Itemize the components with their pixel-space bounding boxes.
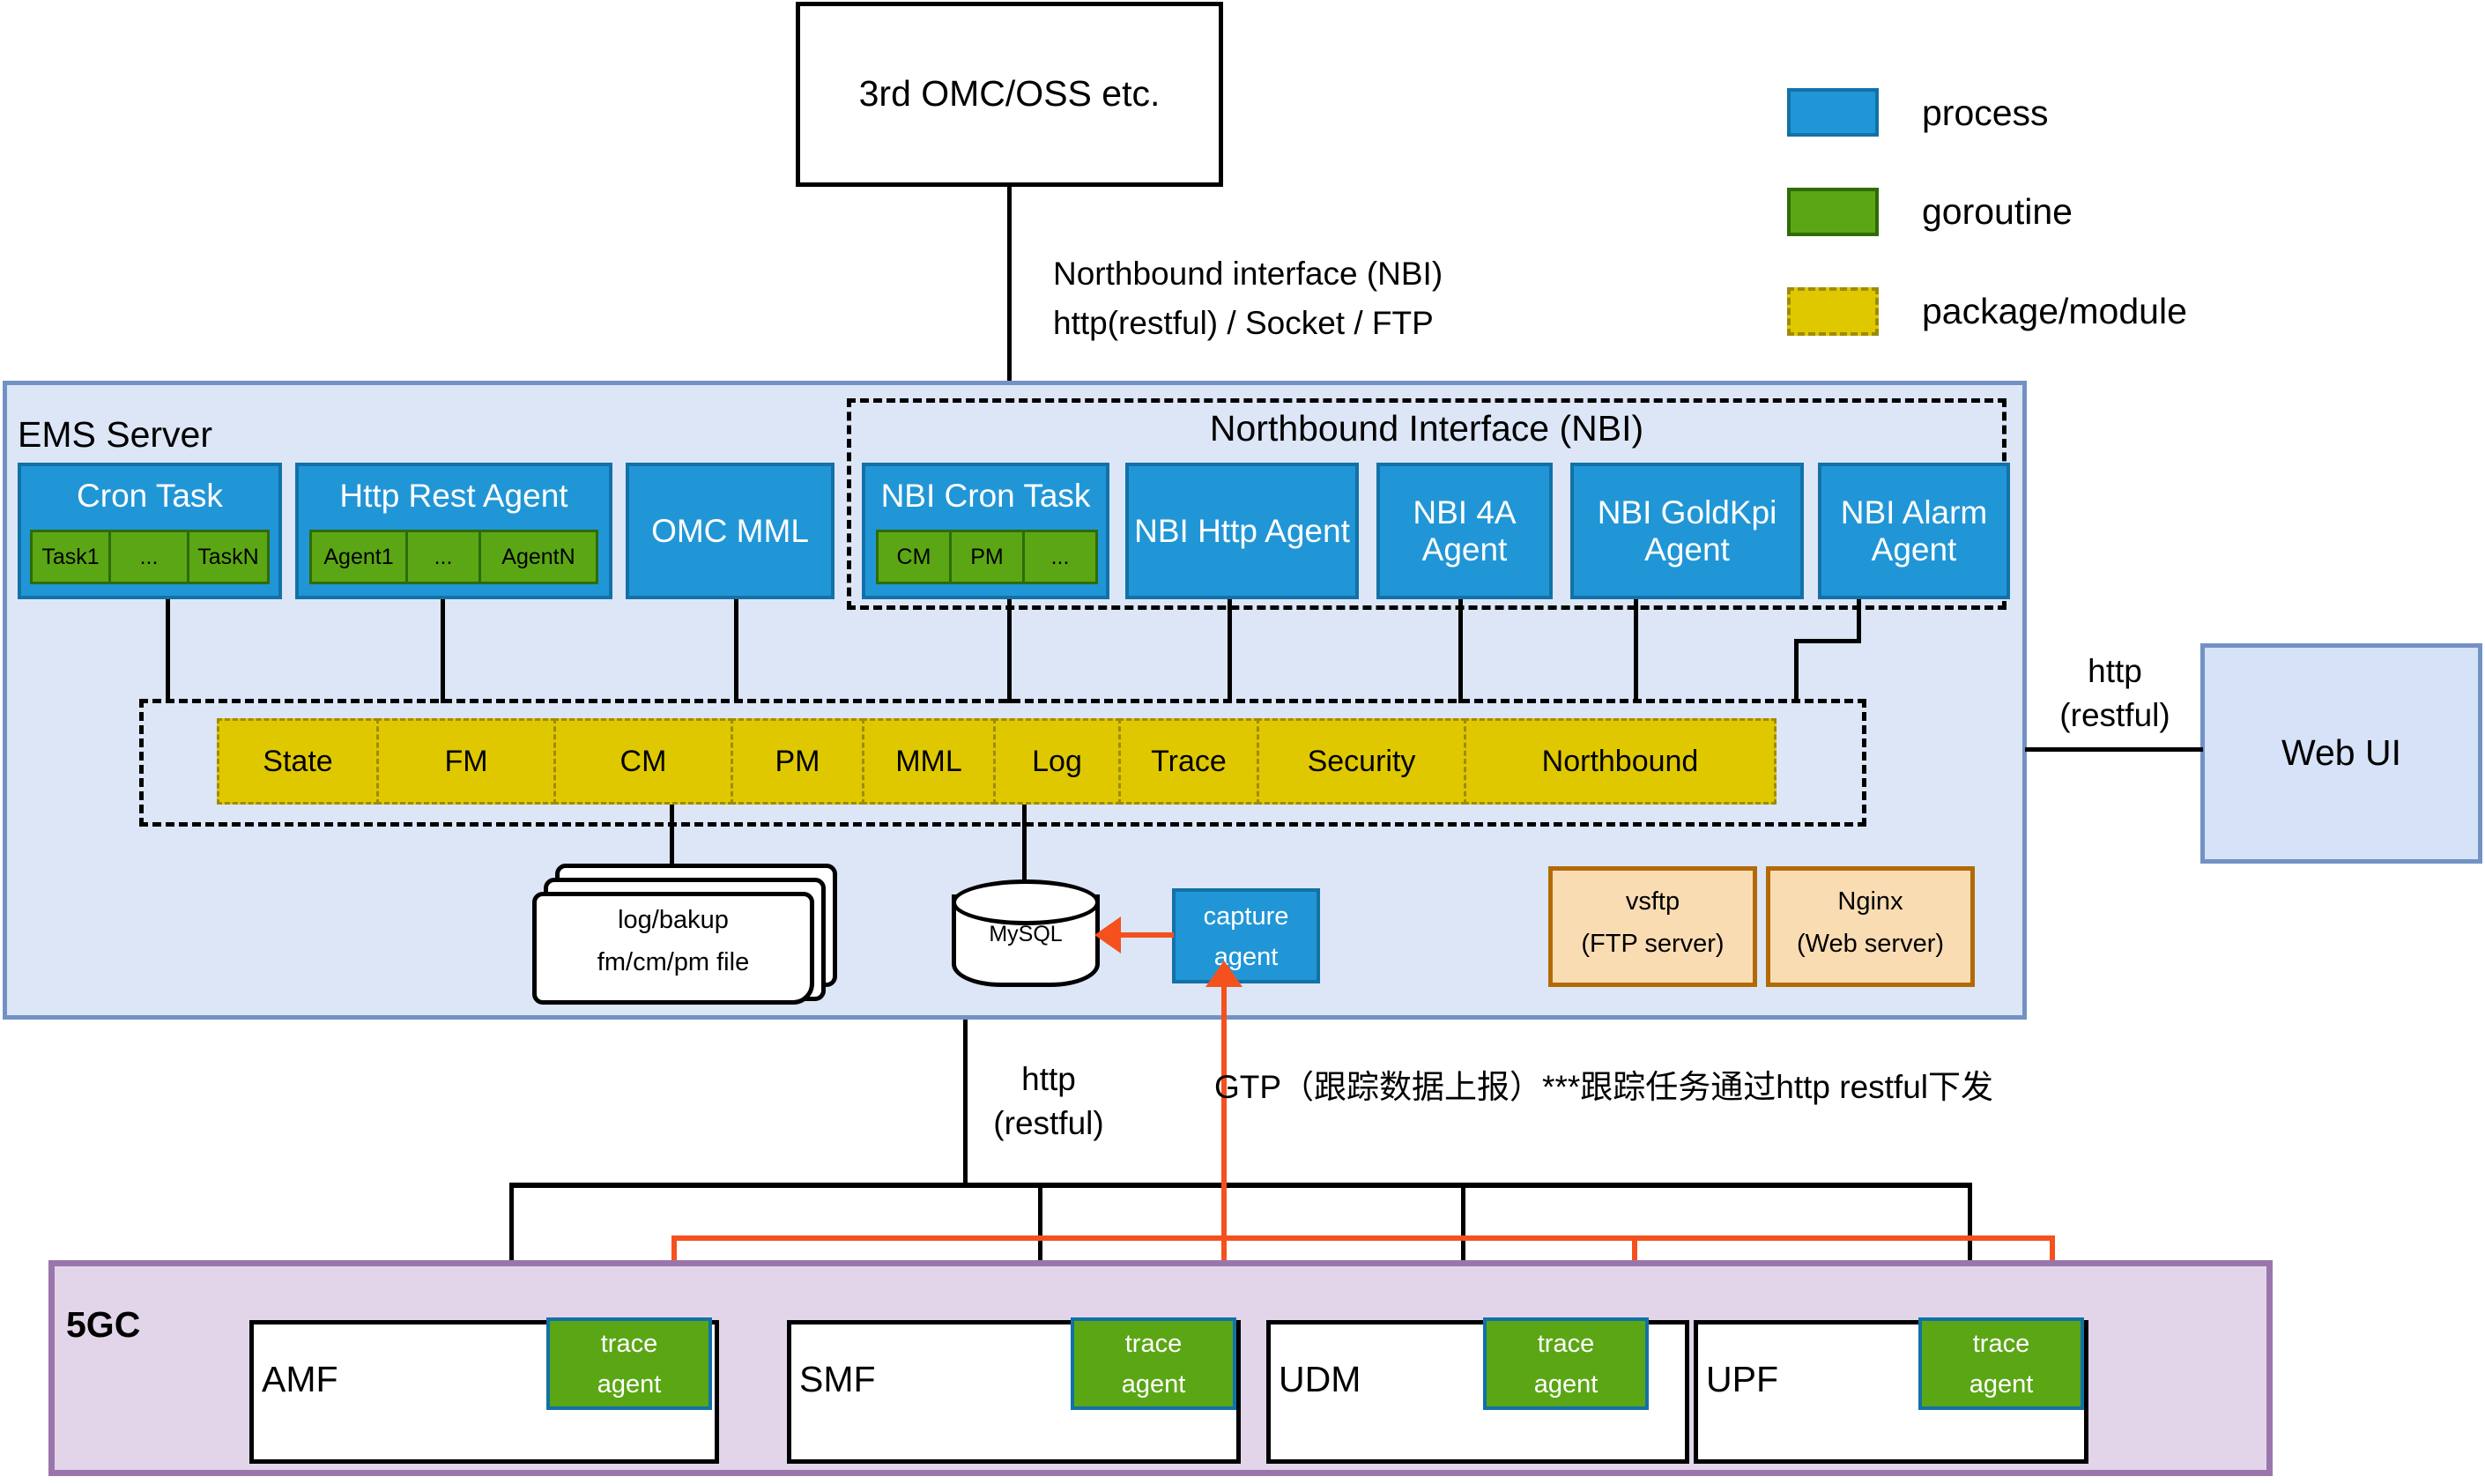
trace-agent-smf[interactable]: trace agent [1071,1317,1236,1410]
process-nbi-http-agent-label: NBI Http Agent [1134,513,1350,549]
legend-swatch-goroutine [1787,188,1879,236]
trace-agent-upf-label-line2: agent [1922,1363,2081,1406]
core-distribution-bus [509,1183,1972,1188]
connector-module-to-mysql [1022,805,1027,879]
legend-swatch-package-module [1787,287,1879,336]
trace-agent-upf[interactable]: trace agent [1918,1317,2084,1410]
connector-nbi-http-agent [1228,599,1232,703]
module-fm[interactable]: FM [376,718,556,805]
process-cron-task[interactable]: Cron Task Task1 ... TaskN [18,463,282,599]
goroutine-group-http-rest-agent: Agent1 ... AgentN [309,530,598,584]
server-nginx[interactable]: Nginx (Web server) [1766,866,1975,987]
module-log[interactable]: Log [993,718,1121,805]
south-http-label-line2: (restful) [974,1104,1124,1143]
capture-agent-label-line1: capture [1176,895,1317,938]
connector-omc-mml [734,599,738,703]
goroutine-taskn[interactable]: TaskN [187,530,270,584]
trace-agent-amf-label-line1: trace [550,1323,708,1365]
process-omc-mml-label: OMC MML [651,513,809,549]
flow-trace-trunk-vertical [1221,983,1227,1240]
module-trace[interactable]: Trace [1118,718,1259,805]
legend-label-process: process [1922,93,2049,134]
core-network-title: 5GC [66,1304,140,1346]
flow-capture-to-mysql-line [1117,932,1174,938]
nf-udm-label: UDM [1279,1359,1361,1400]
web-ui-box[interactable]: Web UI [2200,643,2482,864]
process-nbi-goldkpi-agent-label: NBI GoldKpi Agent [1574,494,1800,568]
nbi-link-label-line1: Northbound interface (NBI) [1053,256,1443,293]
process-nbi-cron-task-label: NBI Cron Task [865,473,1106,519]
goroutine-task1[interactable]: Task1 [30,530,111,584]
goroutine-ellipsis-3: ... [1022,530,1098,584]
file-store-label-line2: fm/cm/pm file [532,943,814,982]
module-northbound[interactable]: Northbound [1464,718,1777,805]
server-nginx-label-line1: Nginx [1770,881,1970,922]
trace-agent-smf-label-line1: trace [1074,1323,1233,1365]
flow-trace-bus [671,1235,2055,1241]
web-ui-label: Web UI [2281,733,2401,774]
mysql-label: MySQL [952,916,1100,952]
server-vsftp-label-line1: vsftp [1553,881,1753,922]
nf-smf-label: SMF [799,1359,876,1400]
connector-cron-task [166,599,170,703]
process-nbi-alarm-agent[interactable]: NBI Alarm Agent [1818,463,2010,599]
nf-amf-label: AMF [262,1359,338,1400]
process-cron-task-label: Cron Task [21,473,278,519]
goroutine-agent1[interactable]: Agent1 [309,530,408,584]
legend-swatch-process [1787,88,1879,137]
connector-nbi-cron-task [1007,599,1012,703]
south-http-label-line1: http [974,1060,1124,1099]
legend: process goroutine package/module [1787,88,2333,344]
ems-server-title: EMS Server [18,414,212,456]
process-nbi-goldkpi-agent[interactable]: NBI GoldKpi Agent [1570,463,1804,599]
trace-agent-upf-label-line1: trace [1922,1323,2081,1365]
process-nbi-4a-agent[interactable]: NBI 4A Agent [1376,463,1553,599]
module-security[interactable]: Security [1257,718,1466,805]
goroutine-group-nbi-cron-task: CM PM ... [876,530,1098,584]
process-nbi-http-agent[interactable]: NBI Http Agent [1125,463,1359,599]
trace-agent-udm-label-line2: agent [1487,1363,1645,1406]
capture-agent-box[interactable]: capture agent [1172,888,1320,983]
diagram-canvas: 3rd OMC/OSS etc. Northbound interface (N… [0,0,2485,1484]
connector-nbi-alarm-agent-elbow [1794,639,1861,643]
external-omc-oss-label: 3rd OMC/OSS etc. [859,74,1161,115]
connector-ems-to-core-trunk [963,1020,968,1187]
server-vsftp[interactable]: vsftp (FTP server) [1548,866,1757,987]
server-vsftp-label-line2: (FTP server) [1553,924,1753,964]
process-http-rest-agent[interactable]: Http Rest Agent Agent1 ... AgentN [295,463,612,599]
module-bar: State FM CM PM MML Log Trace Security No… [217,718,1777,805]
capture-agent-label-line2: agent [1176,936,1317,978]
trace-agent-udm[interactable]: trace agent [1483,1317,1649,1410]
trace-agent-smf-label-line2: agent [1074,1363,1233,1406]
connector-ems-to-webui [2025,747,2203,752]
nbi-group-title: Northbound Interface (NBI) [847,407,2007,451]
external-omc-oss-box: 3rd OMC/OSS etc. [796,2,1223,187]
server-nginx-label-line2: (Web server) [1770,924,1970,964]
module-state[interactable]: State [217,718,379,805]
flow-trace-trunk-arrowhead [1205,961,1242,987]
goroutine-cm[interactable]: CM [876,530,952,584]
process-nbi-4a-agent-label: NBI 4A Agent [1380,494,1549,568]
goroutine-ellipsis-2: ... [405,530,481,584]
connector-nbi-goldkpi-agent [1634,599,1638,703]
gtp-note-label: GTP（跟踪数据上报）***跟踪任务通过http restful下发 [1214,1060,1993,1108]
nf-upf-label: UPF [1706,1359,1778,1400]
nbi-link-label-line2: http(restful) / Socket / FTP [1053,305,1434,342]
module-cm[interactable]: CM [553,718,733,805]
legend-label-goroutine: goroutine [1922,191,2073,233]
trace-agent-amf-label-line2: agent [550,1363,708,1406]
goroutine-ellipsis-1: ... [108,530,189,584]
process-http-rest-agent-label: Http Rest Agent [299,473,609,519]
module-pm[interactable]: PM [731,718,864,805]
goroutine-group-cron-task: Task1 ... TaskN [30,530,270,584]
flow-capture-to-mysql-arrowhead [1094,916,1121,953]
webui-link-label-line2: (restful) [2027,696,2203,735]
process-nbi-cron-task[interactable]: NBI Cron Task CM PM ... [862,463,1109,599]
nbi-connector-line [1007,187,1012,407]
trace-agent-udm-label-line1: trace [1487,1323,1645,1365]
goroutine-agentn[interactable]: AgentN [478,530,598,584]
connector-nbi-4a-agent [1458,599,1463,703]
trace-agent-amf[interactable]: trace agent [546,1317,712,1410]
connector-nbi-alarm-agent-lower [1794,639,1799,703]
process-omc-mml[interactable]: OMC MML [626,463,835,599]
module-mml[interactable]: MML [862,718,996,805]
connector-http-rest-agent [441,599,445,703]
process-nbi-alarm-agent-label: NBI Alarm Agent [1821,494,2007,568]
connector-nbi-alarm-agent-upper [1857,599,1861,643]
legend-label-package-module: package/module [1922,291,2187,332]
file-store-label-line1: log/bakup [532,901,814,939]
goroutine-pm[interactable]: PM [949,530,1025,584]
webui-link-label-line1: http [2036,652,2194,691]
